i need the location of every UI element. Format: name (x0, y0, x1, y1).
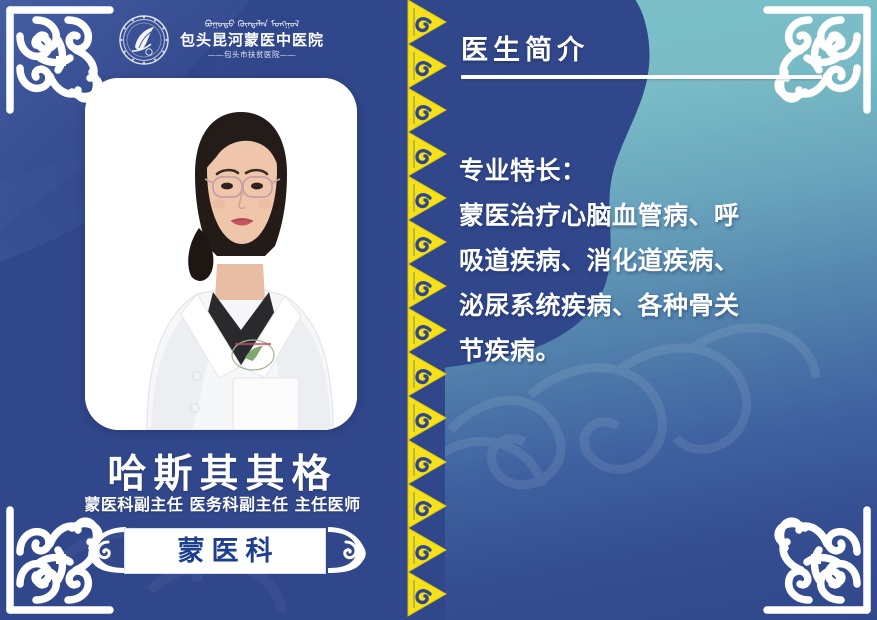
doctor-profile-poster: ᠪᠤᠭᠤᠲᠤ ᠬᠦᠨᠳᠡᠯᠡᠨ ᠮᠣᠩᠭᠣᠯ 包头昆河蒙医中医院 ——包头市扶贫… (0, 0, 877, 620)
mongolian-divider-band (404, 0, 450, 620)
section-title: 医生简介 (461, 28, 589, 67)
doctor-portrait (85, 78, 357, 430)
hospital-mongolian-script: ᠪᠤᠭᠤᠲᠤ ᠬᠦᠨᠳᠡᠯᠡᠨ ᠮᠣᠩᠭᠣᠯ (205, 21, 299, 30)
specialty-line-2: 吸道疾病、消化道疾病、 (459, 238, 837, 283)
specialty-line-1: 蒙医治疗心脑血管病、呼 (459, 193, 837, 238)
hospital-subtitle: ——包头市扶贫医院—— (208, 51, 296, 59)
department-plate: 蒙医科 (124, 528, 326, 574)
doctor-photo-card (85, 78, 357, 430)
hospital-emblem-icon (118, 14, 170, 66)
hospital-name: 包头昆河蒙医中医院 (180, 33, 324, 48)
corner-ornament-top-left-icon (6, 6, 114, 114)
corner-ornament-bottom-right-icon (763, 506, 871, 614)
department-label: 蒙医科 (171, 538, 280, 565)
hospital-logo-block: ᠪᠤᠭᠤᠲᠤ ᠬᠦᠨᠳᠡᠯᠡᠨ ᠮᠣᠩᠭᠣᠯ 包头昆河蒙医中医院 ——包头市扶贫… (118, 14, 324, 66)
section-title-underline (461, 75, 822, 79)
department-badge: 蒙医科 (86, 526, 362, 574)
specialty-line-4: 节疾病。 (459, 328, 837, 373)
doctor-titles: 蒙医科副主任 医务科副主任 主任医师 (0, 491, 445, 515)
specialty-label: 专业特长： (459, 148, 837, 193)
specialty-line-3: 泌尿系统疾病、各种骨关 (459, 283, 837, 328)
corner-ornament-top-right-icon (763, 6, 871, 114)
scroll-bracket-right-icon (324, 526, 368, 574)
specialty-text-block: 专业特长： 蒙医治疗心脑血管病、呼 吸道疾病、消化道疾病、 泌尿系统疾病、各种骨… (459, 148, 837, 373)
